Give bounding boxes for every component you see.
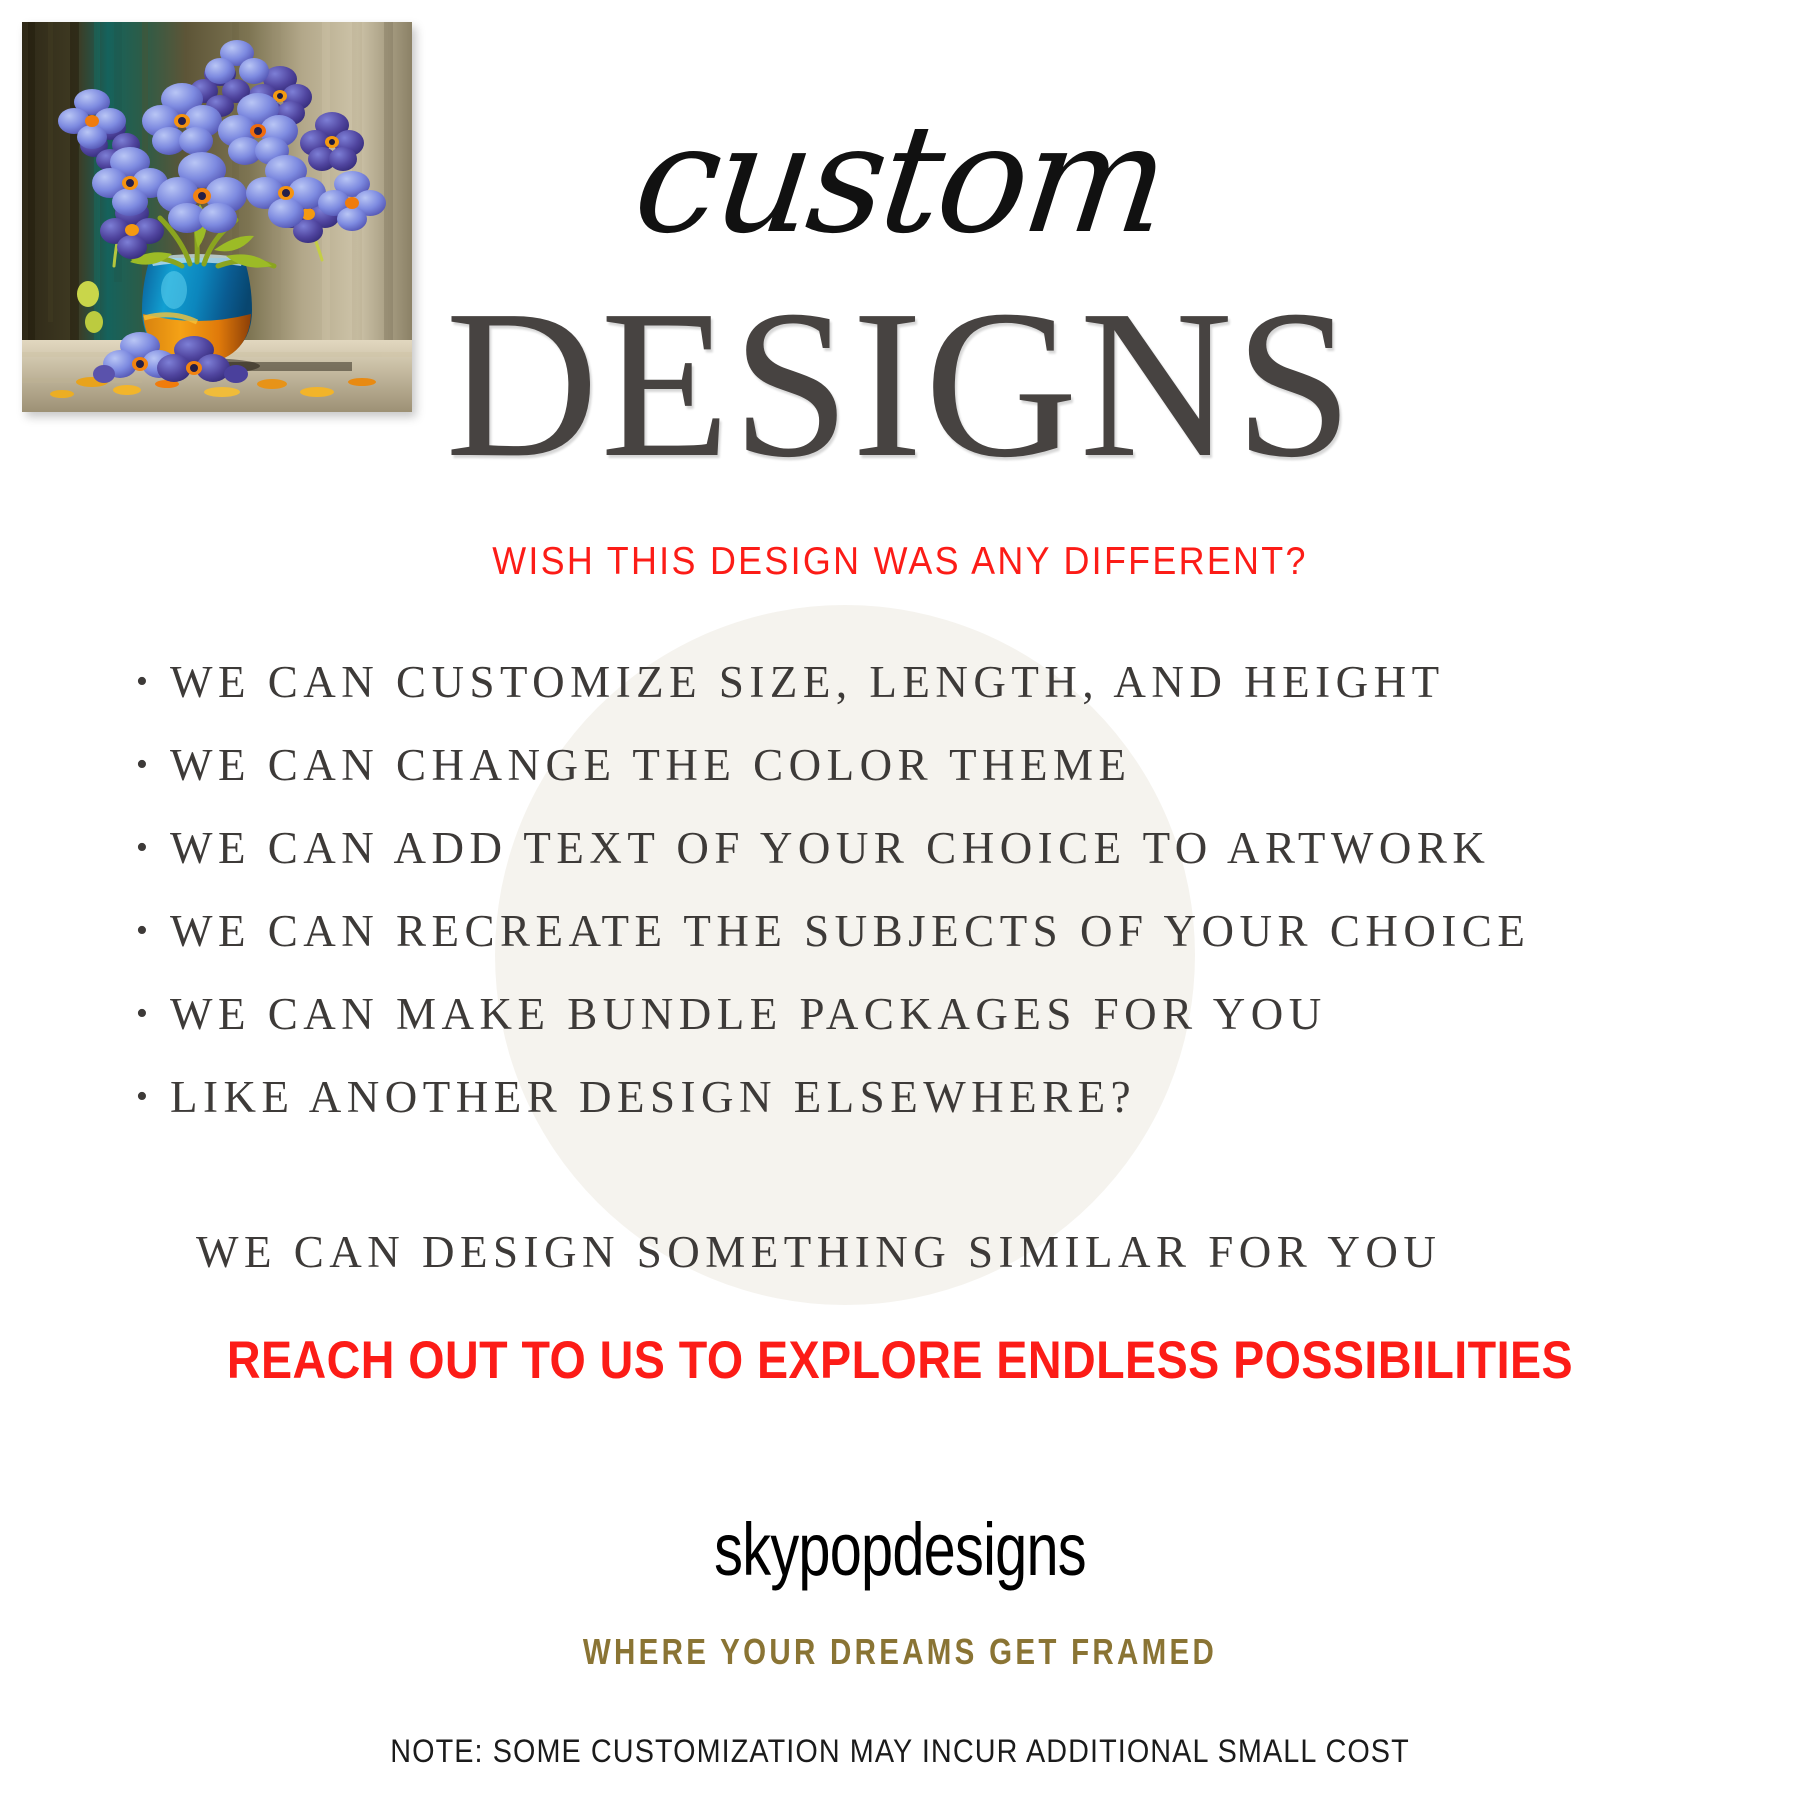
list-item-continuation: WE CAN DESIGN SOMETHING SIMILAR FOR YOU xyxy=(196,1225,1441,1279)
list-item: • WE CAN RECREATE THE SUBJECTS OF YOUR C… xyxy=(130,904,1690,987)
list-item: • WE CAN CHANGE THE COLOR THEME xyxy=(130,738,1690,821)
list-item: • WE CAN CUSTOMIZE SIZE, LENGTH, AND HEI… xyxy=(130,655,1690,738)
list-item: • LIKE ANOTHER DESIGN ELSEWHERE? xyxy=(130,1070,1690,1153)
footer-note: NOTE: SOME CUSTOMIZATION MAY INCUR ADDIT… xyxy=(90,1735,1710,1767)
bullet-icon: • xyxy=(130,904,170,958)
tagline-question: WISH THIS DESIGN WAS ANY DIFFERENT? xyxy=(72,542,1728,581)
brand-name: skypopdesigns xyxy=(198,1513,1602,1587)
benefits-list: • WE CAN CUSTOMIZE SIZE, LENGTH, AND HEI… xyxy=(130,655,1690,1153)
artwork-thumbnail[interactable] xyxy=(22,22,412,412)
list-item-label: WE CAN CHANGE THE COLOR THEME xyxy=(170,738,1132,792)
orchid-painting-illustration xyxy=(22,22,412,412)
list-item-label: WE CAN MAKE BUNDLE PACKAGES FOR YOU xyxy=(170,987,1327,1041)
bullet-icon: • xyxy=(130,987,170,1041)
cta-banner: REACH OUT TO US TO EXPLORE ENDLESS POSSI… xyxy=(108,1334,1692,1387)
list-item-label: WE CAN CUSTOMIZE SIZE, LENGTH, AND HEIGH… xyxy=(170,655,1445,709)
brand-tagline: WHERE YOUR DREAMS GET FRAMED xyxy=(162,1634,1638,1670)
list-item-label: WE CAN ADD TEXT OF YOUR CHOICE TO ARTWOR… xyxy=(170,821,1490,875)
bullet-icon: • xyxy=(130,1070,170,1124)
list-item-label: WE CAN RECREATE THE SUBJECTS OF YOUR CHO… xyxy=(170,904,1530,958)
list-item-label: LIKE ANOTHER DESIGN ELSEWHERE? xyxy=(170,1070,1136,1124)
bullet-icon: • xyxy=(130,738,170,792)
bullet-icon: • xyxy=(130,821,170,875)
list-item: • WE CAN MAKE BUNDLE PACKAGES FOR YOU xyxy=(130,987,1690,1070)
list-item: • WE CAN ADD TEXT OF YOUR CHOICE TO ARTW… xyxy=(130,821,1690,904)
bullet-icon: • xyxy=(130,655,170,709)
